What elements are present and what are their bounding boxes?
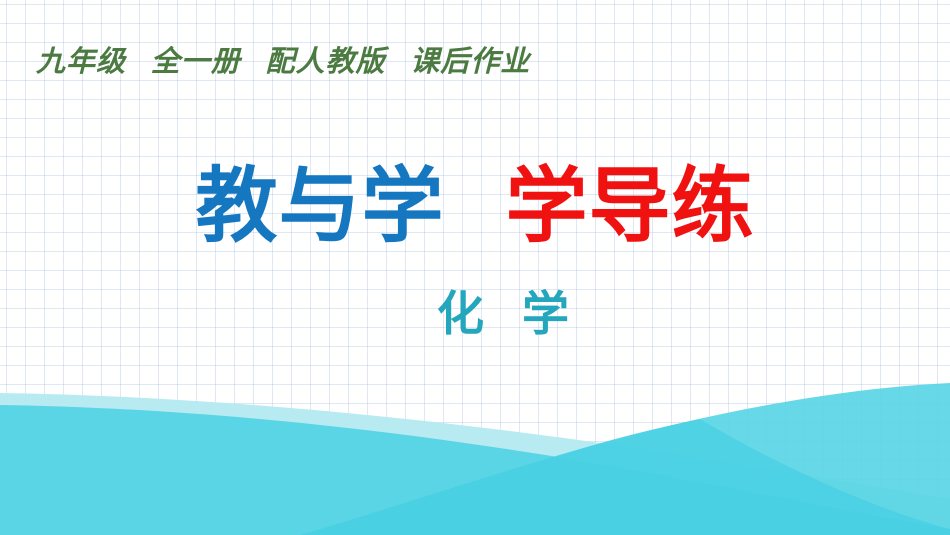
course-meta-line: 九年级 全一册 配人教版 课后作业 (36, 46, 530, 79)
title-secondary: 学导练 (505, 161, 754, 252)
subject-label: 化 学 (0, 290, 950, 337)
title-primary: 教与学 (196, 161, 445, 252)
slide-text-content: 九年级 全一册 配人教版 课后作业 教与学 学导练 化 学 (0, 0, 950, 535)
main-title: 教与学 学导练 (0, 166, 950, 248)
presentation-cover-slide: 九年级 全一册 配人教版 课后作业 教与学 学导练 化 学 (0, 0, 950, 535)
